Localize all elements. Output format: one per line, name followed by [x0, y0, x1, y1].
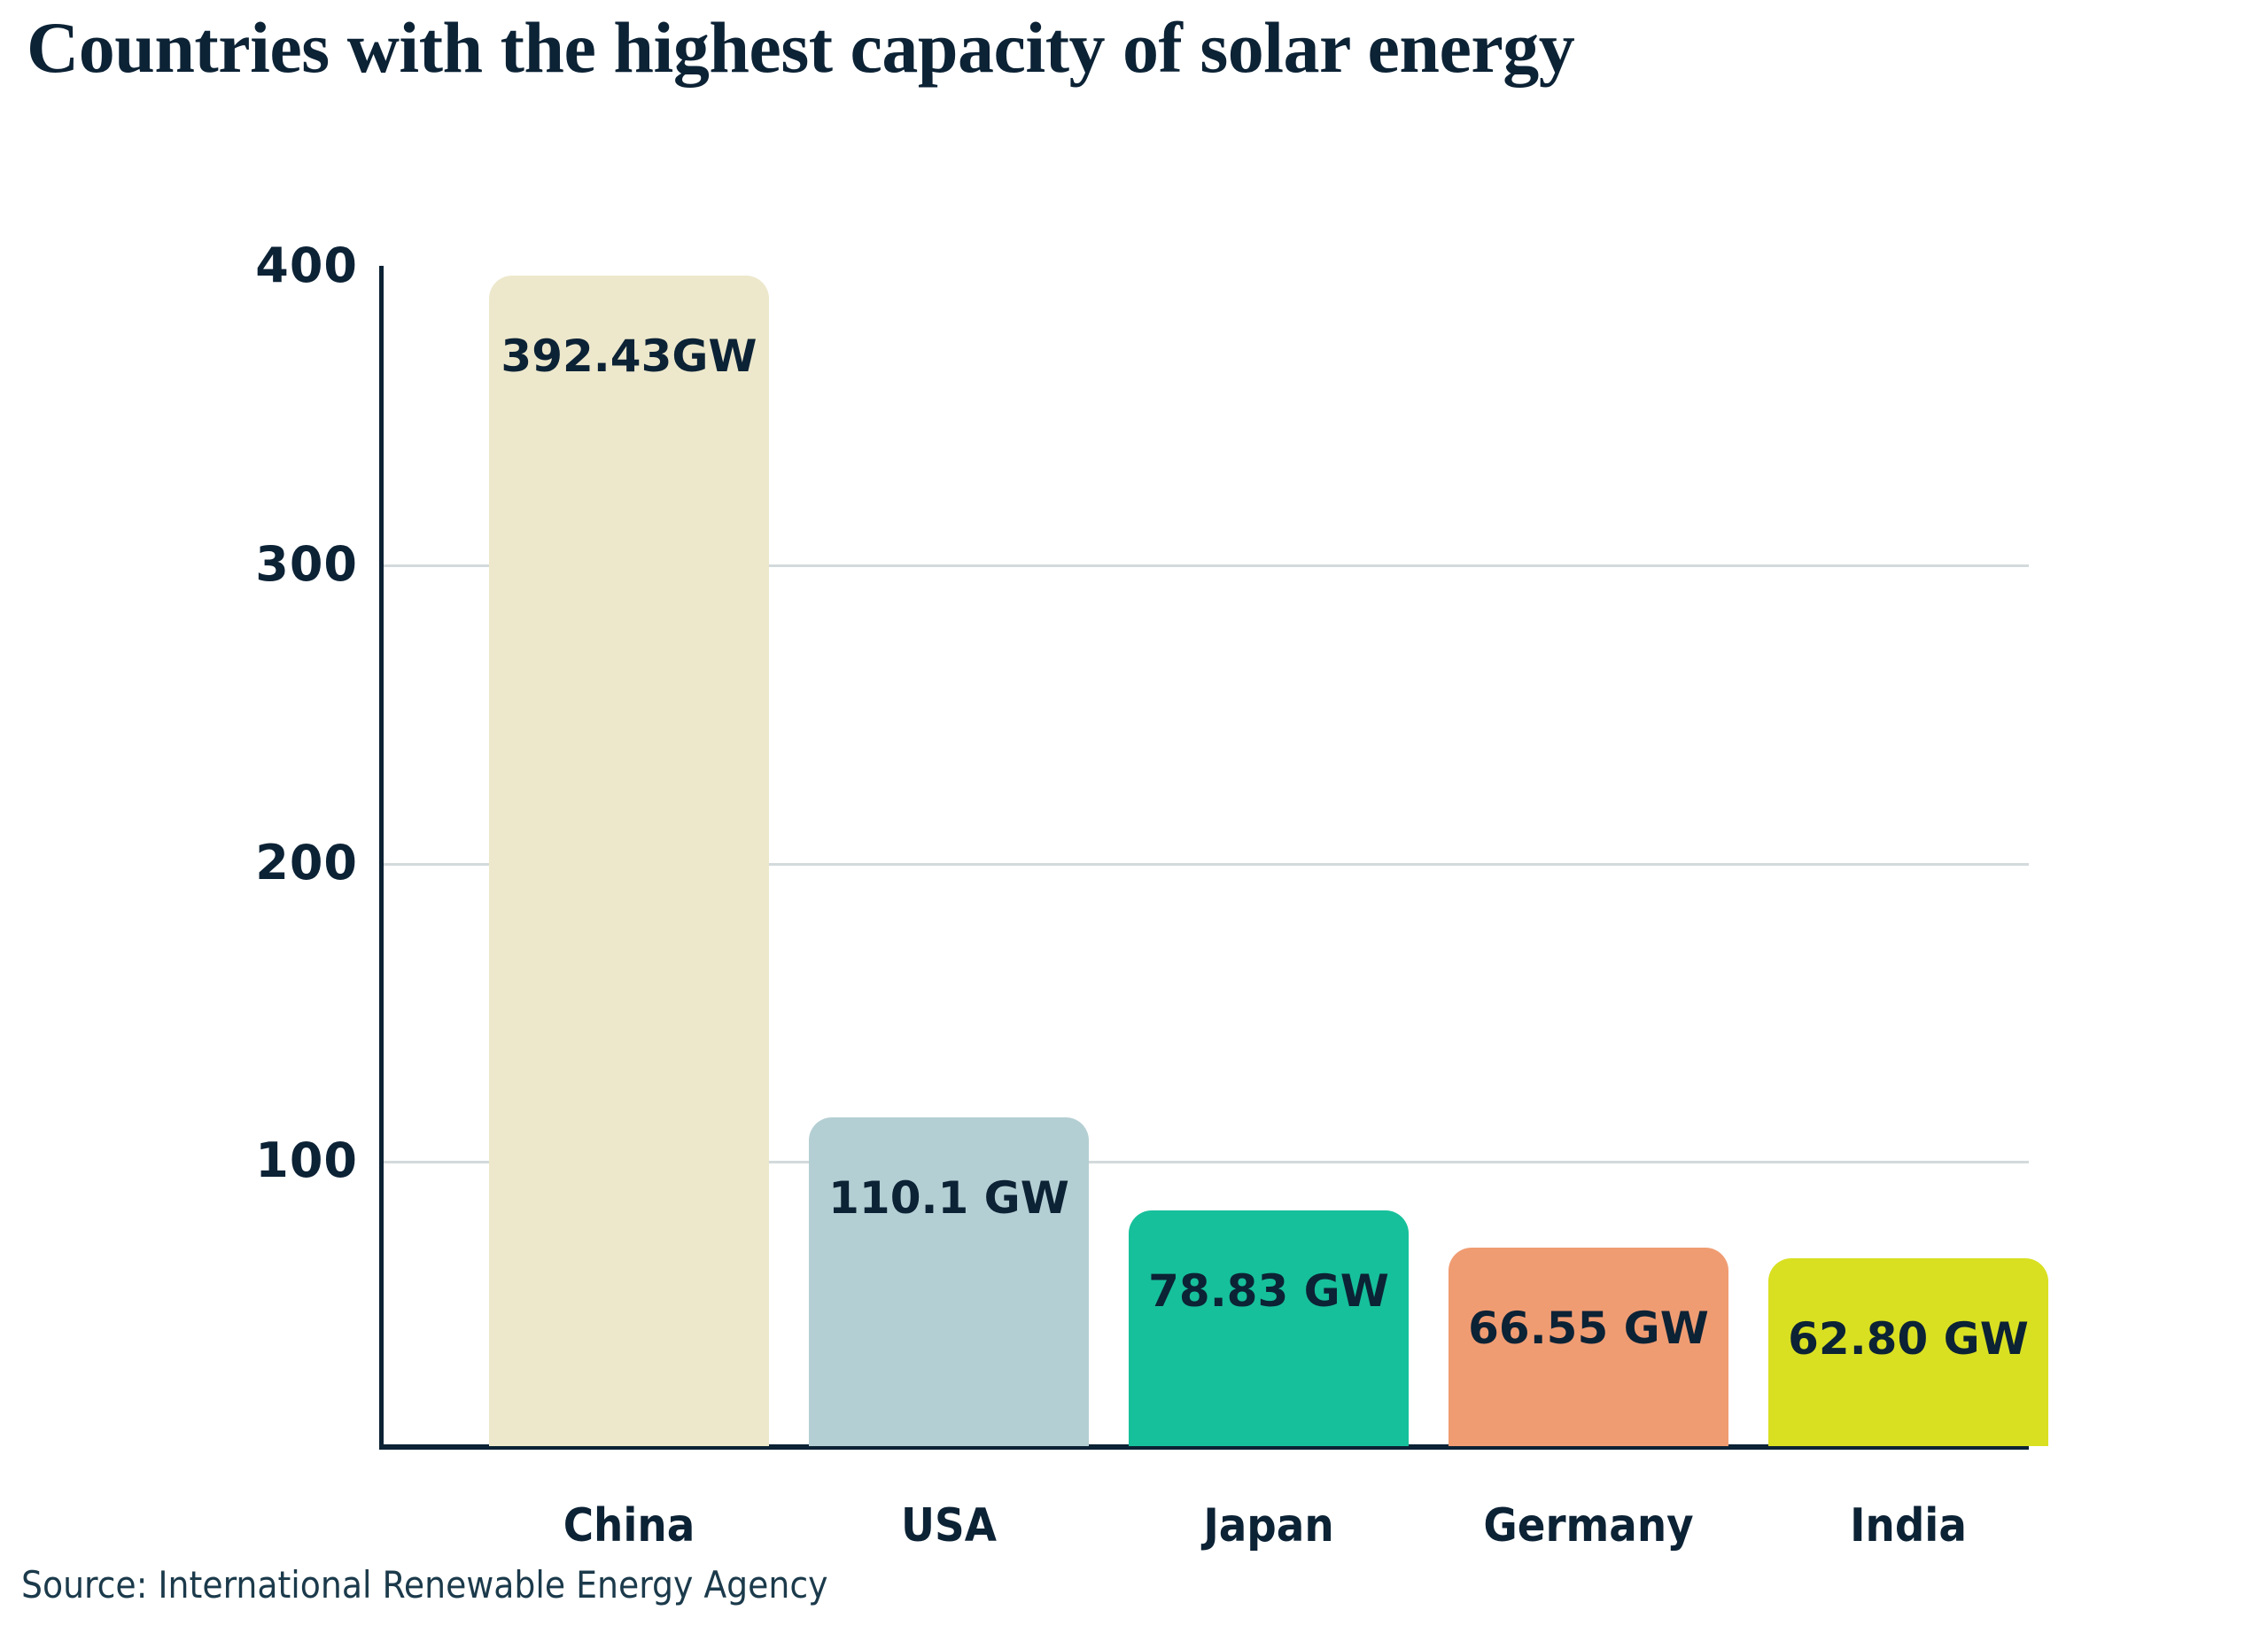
category-label-germany: Germany — [1449, 1499, 1728, 1552]
y-axis-line — [379, 266, 384, 1449]
category-label-china: China — [489, 1499, 769, 1552]
bar-india[interactable]: 62.80 GW — [1768, 1258, 2048, 1446]
category-label-usa: USA — [809, 1499, 1089, 1552]
source-note: Source: International Renewable Energy A… — [21, 1563, 828, 1607]
category-label-japan: Japan — [1129, 1499, 1409, 1552]
bar-value-china: 392.43GW — [489, 334, 769, 378]
bar-japan[interactable]: 78.83 GW — [1129, 1210, 1409, 1446]
y-tick-label-200: 200 — [255, 839, 358, 887]
bar-value-germany: 66.55 GW — [1449, 1306, 1728, 1350]
bar-usa[interactable]: 110.1 GW — [809, 1117, 1089, 1446]
bar-germany[interactable]: 66.55 GW — [1449, 1248, 1728, 1446]
bar-value-japan: 78.83 GW — [1129, 1269, 1409, 1313]
bar-chart: 400 300 200 100 392.43GW 110.1 GW 78.83 … — [0, 0, 2268, 1626]
bar-value-india: 62.80 GW — [1768, 1317, 2048, 1361]
bar-value-usa: 110.1 GW — [809, 1176, 1089, 1220]
bar-china[interactable]: 392.43GW — [489, 276, 769, 1446]
y-tick-label-300: 300 — [255, 541, 358, 588]
y-tick-label-100: 100 — [255, 1137, 358, 1185]
y-tick-label-400: 400 — [255, 242, 358, 290]
category-label-india: India — [1768, 1499, 2048, 1552]
